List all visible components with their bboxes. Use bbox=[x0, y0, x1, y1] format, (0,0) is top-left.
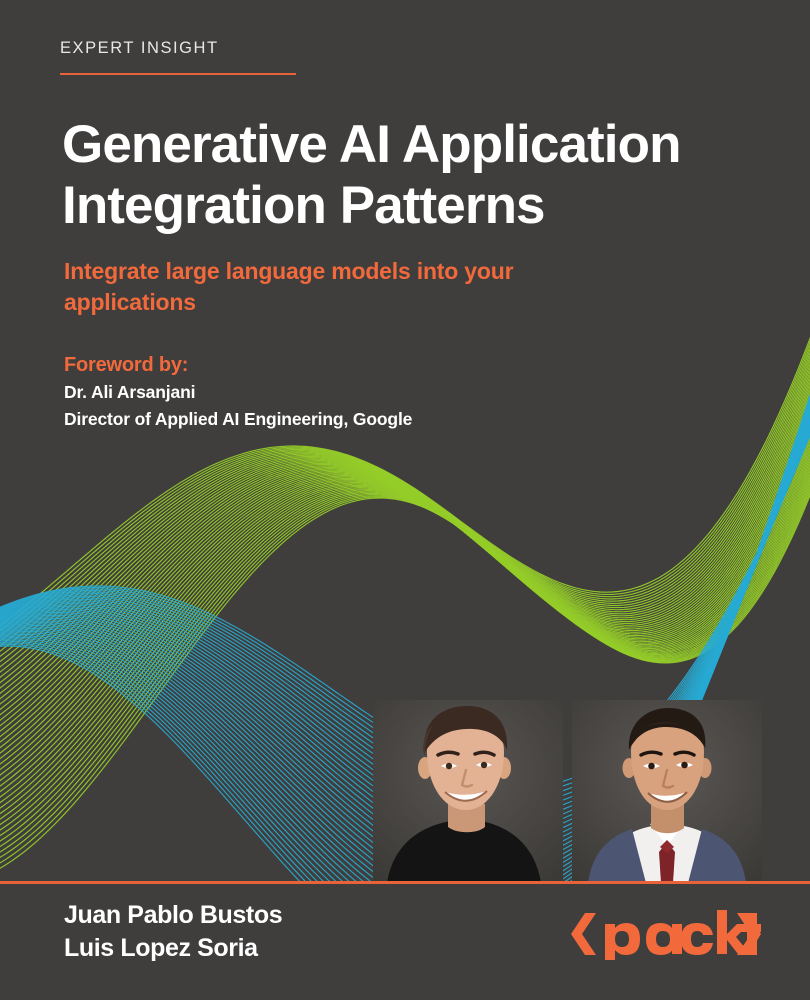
author-names: Juan Pablo Bustos Luis Lopez Soria bbox=[64, 899, 484, 965]
foreword-author-role: Director of Applied AI Engineering, Goog… bbox=[64, 406, 664, 433]
book-title-line-1: Generative AI Application bbox=[62, 114, 762, 175]
foreword-author-name: Dr. Ali Arsanjani bbox=[64, 379, 664, 406]
foreword-block: Foreword by: Dr. Ali Arsanjani Director … bbox=[64, 352, 664, 432]
author-photos bbox=[0, 700, 810, 883]
expert-insight-banner: EXPERT INSIGHT bbox=[60, 40, 296, 58]
book-subtitle-line-2: applications bbox=[64, 287, 684, 318]
banner-divider bbox=[60, 73, 296, 75]
book-subtitle: Integrate large language models into you… bbox=[64, 256, 684, 318]
wave-line bbox=[0, 177, 810, 700]
foreword-label: Foreword by: bbox=[64, 352, 664, 379]
book-title-line-2: Integration Patterns bbox=[62, 175, 762, 236]
book-subtitle-line-1: Integrate large language models into you… bbox=[64, 256, 684, 287]
author-photo-juan-pablo-bustos bbox=[373, 700, 563, 883]
bottom-divider bbox=[0, 881, 810, 884]
author-name-1: Juan Pablo Bustos bbox=[64, 899, 484, 932]
packt-logo bbox=[571, 908, 761, 960]
wave-line bbox=[0, 173, 810, 694]
author-name-2: Luis Lopez Soria bbox=[64, 932, 484, 965]
book-title: Generative AI Application Integration Pa… bbox=[62, 114, 762, 237]
expert-insight-label: EXPERT INSIGHT bbox=[60, 39, 219, 57]
book-cover: EXPERT INSIGHT Generative AI Application… bbox=[0, 0, 810, 1000]
author-photo-luis-lopez-soria bbox=[572, 700, 762, 883]
